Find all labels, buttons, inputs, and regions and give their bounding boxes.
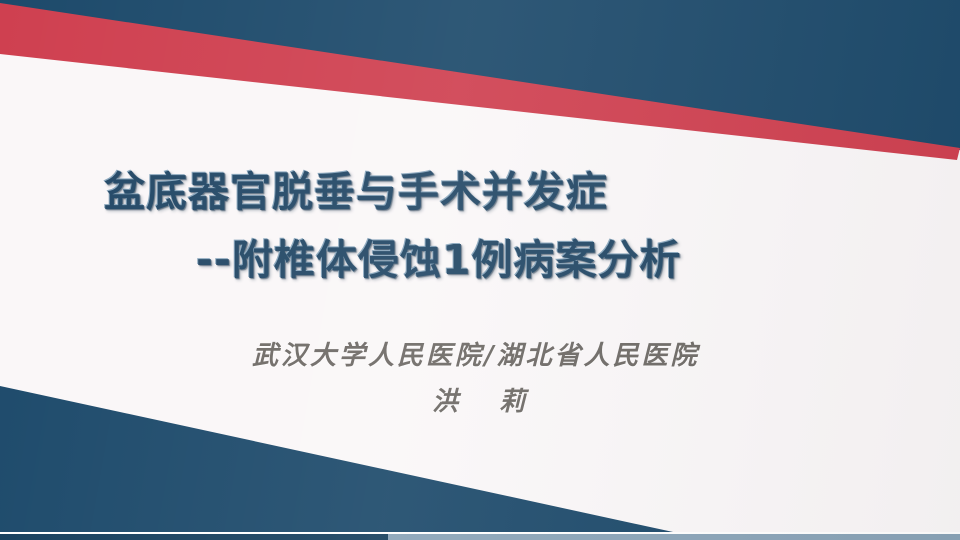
slide-title: 盆底器官脱垂与手术并发症 --附椎体侵蚀1例病案分析 (0, 158, 960, 294)
bottom-dark-strip-left (0, 534, 388, 540)
title-line-primary: 盆底器官脱垂与手术并发症 (0, 158, 960, 226)
author-name: 洪 莉 (0, 382, 960, 422)
organization-label: 武汉大学人民医院/湖北省人民医院 (0, 336, 960, 376)
slide-credits: 武汉大学人民医院/湖北省人民医院 洪 莉 (0, 336, 960, 422)
bottom-dark-strip-right (388, 534, 960, 540)
title-line-secondary: --附椎体侵蚀1例病案分析 (0, 226, 960, 294)
presentation-slide: 盆底器官脱垂与手术并发症 --附椎体侵蚀1例病案分析 武汉大学人民医院/湖北省人… (0, 0, 960, 540)
